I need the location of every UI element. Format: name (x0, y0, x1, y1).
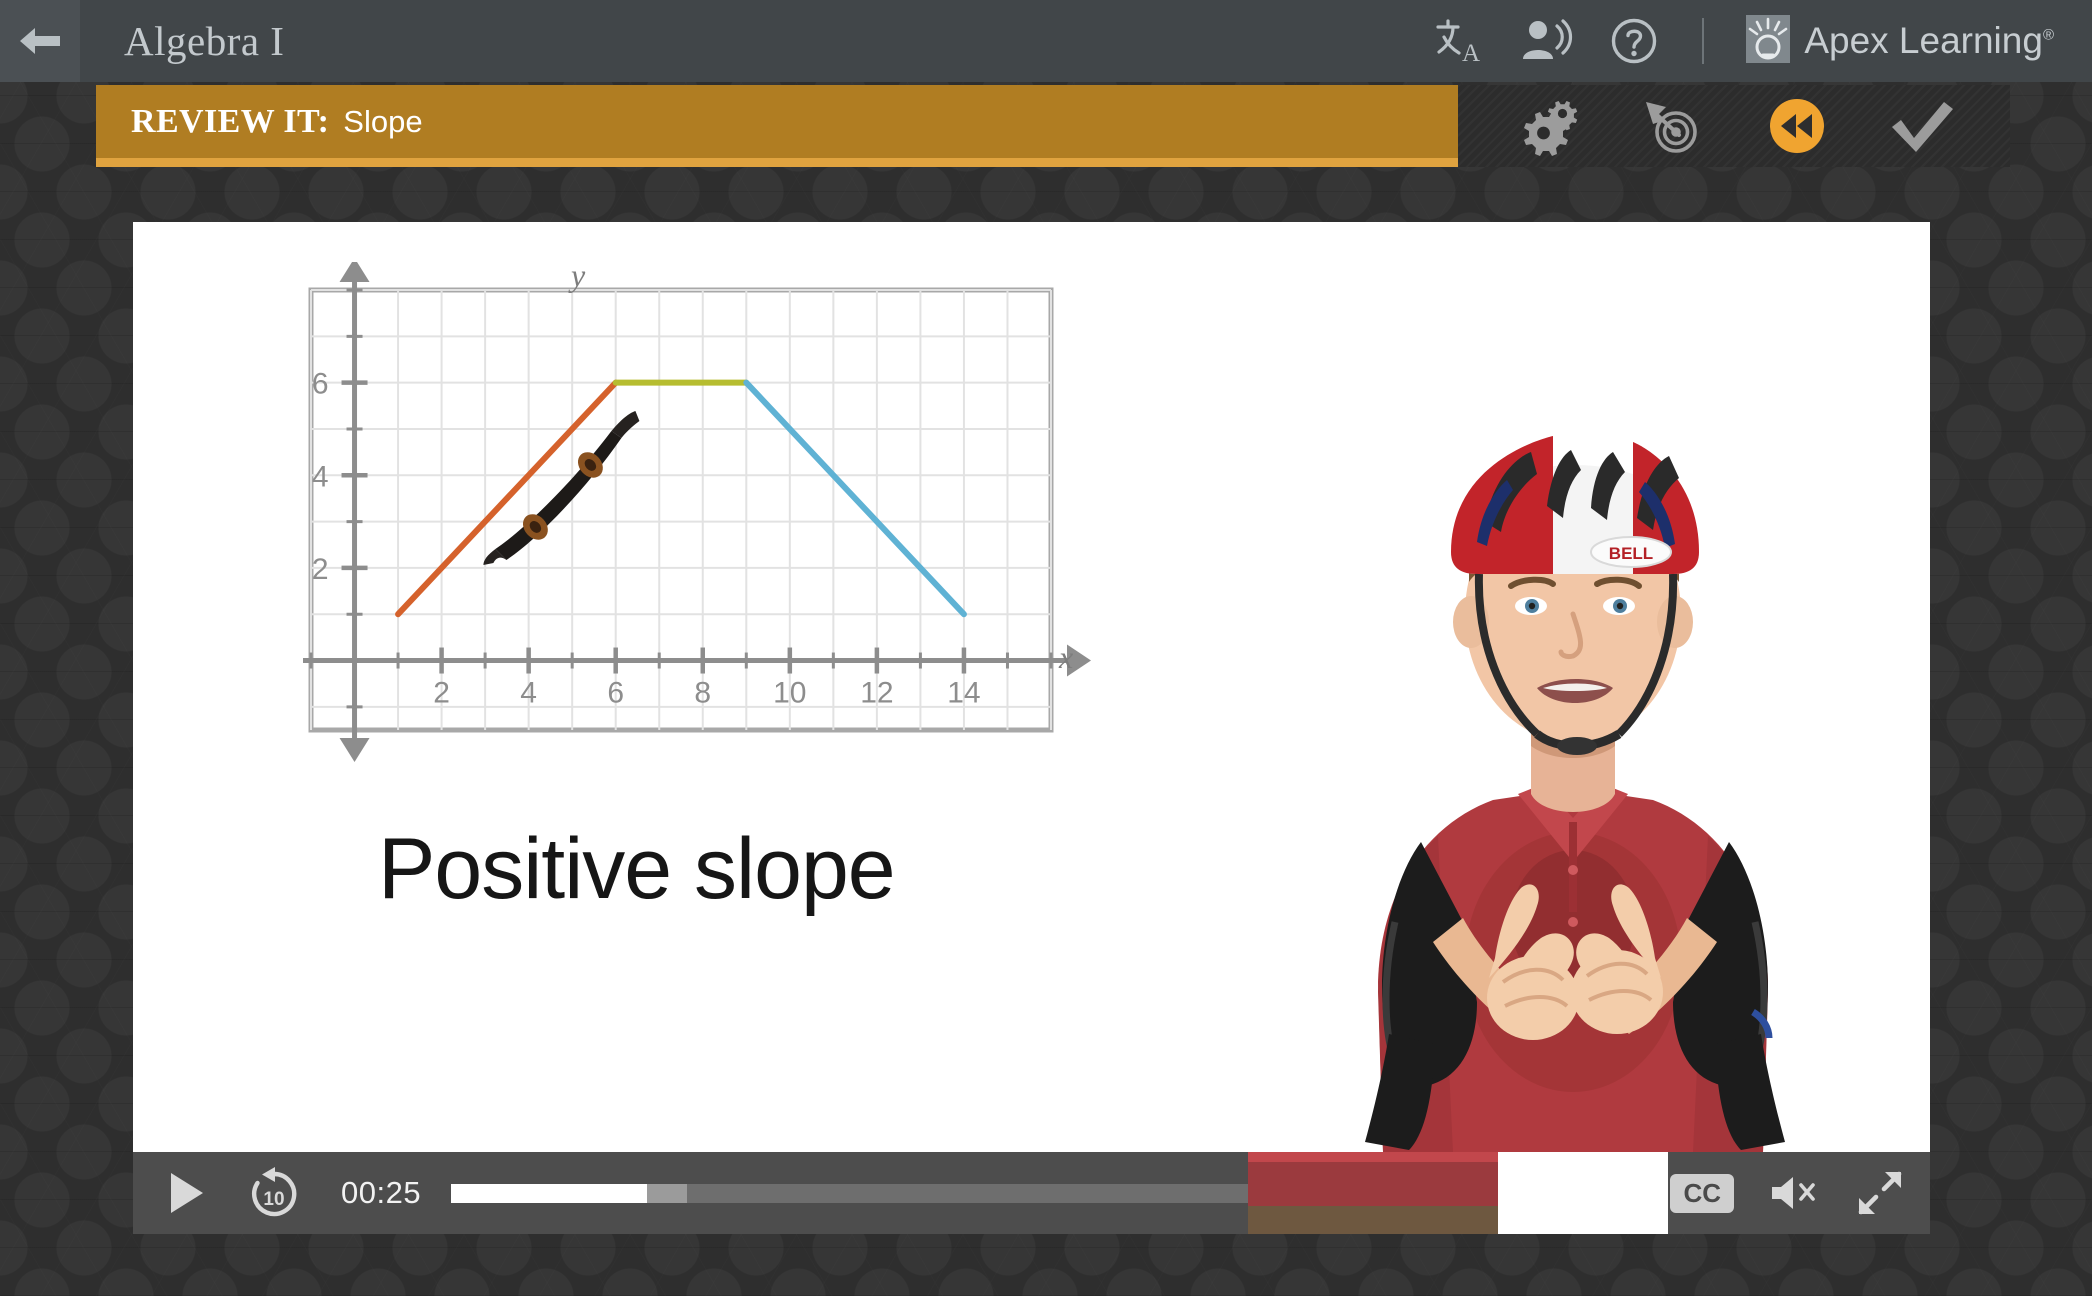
fullscreen-button[interactable] (1856, 1169, 1904, 1217)
hd-badge[interactable]: HD (1573, 1174, 1637, 1213)
help-icon[interactable] (1606, 13, 1662, 69)
app-bar: Algebra I A (0, 0, 2092, 82)
x-tick-label: 6 (607, 677, 624, 710)
cc-badge[interactable]: CC (1670, 1174, 1734, 1213)
x-tick-label: 8 (694, 677, 711, 710)
y-tick-label: 6 (312, 368, 329, 401)
svg-text:A: A (1462, 40, 1480, 67)
presenter-video: BELL (1133, 222, 1930, 1152)
lesson-toolbar (1458, 85, 2010, 167)
x-tick-label: 14 (947, 677, 980, 710)
target-dart-icon[interactable] (1632, 90, 1712, 162)
app-bar-left: Algebra I (0, 0, 284, 82)
slope-graph: 2468101214246 y x (303, 262, 1093, 782)
rewind-10-button[interactable]: 10 (241, 1160, 307, 1226)
video-frame[interactable]: 2468101214246 y x Positive slope (133, 222, 1930, 1152)
duration: 02:07 (1463, 1175, 1543, 1211)
progress-played (451, 1184, 647, 1203)
translate-icon[interactable]: A (1430, 13, 1486, 69)
review-topic: Slope (343, 104, 422, 140)
rewind-icon[interactable] (1757, 90, 1837, 162)
review-label: REVIEW IT: (131, 103, 329, 141)
back-button[interactable] (0, 0, 80, 82)
brand-name: Apex Learning® (1804, 20, 2054, 62)
back-arrow-icon (18, 24, 62, 58)
checkmark-icon[interactable] (1882, 90, 1962, 162)
slope-caption: Positive slope (378, 820, 1078, 919)
course-title: Algebra I (124, 17, 284, 65)
progress-scrubber[interactable] (451, 1184, 1433, 1203)
lightbulb-rays-icon (1744, 13, 1792, 70)
svg-text:BELL: BELL (1609, 544, 1653, 563)
svg-text:x: x (1058, 639, 1073, 675)
video-player: 2468101214246 y x Positive slope (133, 222, 1930, 1234)
banner-row: REVIEW IT: Slope (96, 85, 2010, 167)
x-tick-label: 2 (433, 677, 450, 710)
app-bar-right: A (1430, 0, 2092, 82)
y-tick-label: 4 (312, 460, 329, 493)
brand-trademark: ® (2043, 27, 2054, 44)
svg-text:y: y (568, 262, 586, 293)
x-tick-label: 4 (520, 677, 537, 710)
y-tick-label: 2 (312, 553, 329, 586)
appbar-divider (1702, 18, 1704, 64)
play-button[interactable] (159, 1165, 215, 1221)
mute-button[interactable] (1768, 1172, 1822, 1214)
video-controls: 10 00:25 02:07 HD CC (133, 1152, 1930, 1234)
right-controls: HD CC (1573, 1169, 1904, 1217)
x-tick-label: 10 (773, 677, 806, 710)
apex-learning-logo[interactable]: Apex Learning® (1744, 13, 2054, 70)
read-aloud-icon[interactable] (1518, 13, 1574, 69)
x-tick-label: 12 (860, 677, 893, 710)
rewind-10-label: 10 (263, 1189, 284, 1210)
current-time: 00:25 (341, 1175, 421, 1211)
review-banner: REVIEW IT: Slope (96, 85, 1458, 167)
settings-gears-icon[interactable] (1507, 90, 1587, 162)
